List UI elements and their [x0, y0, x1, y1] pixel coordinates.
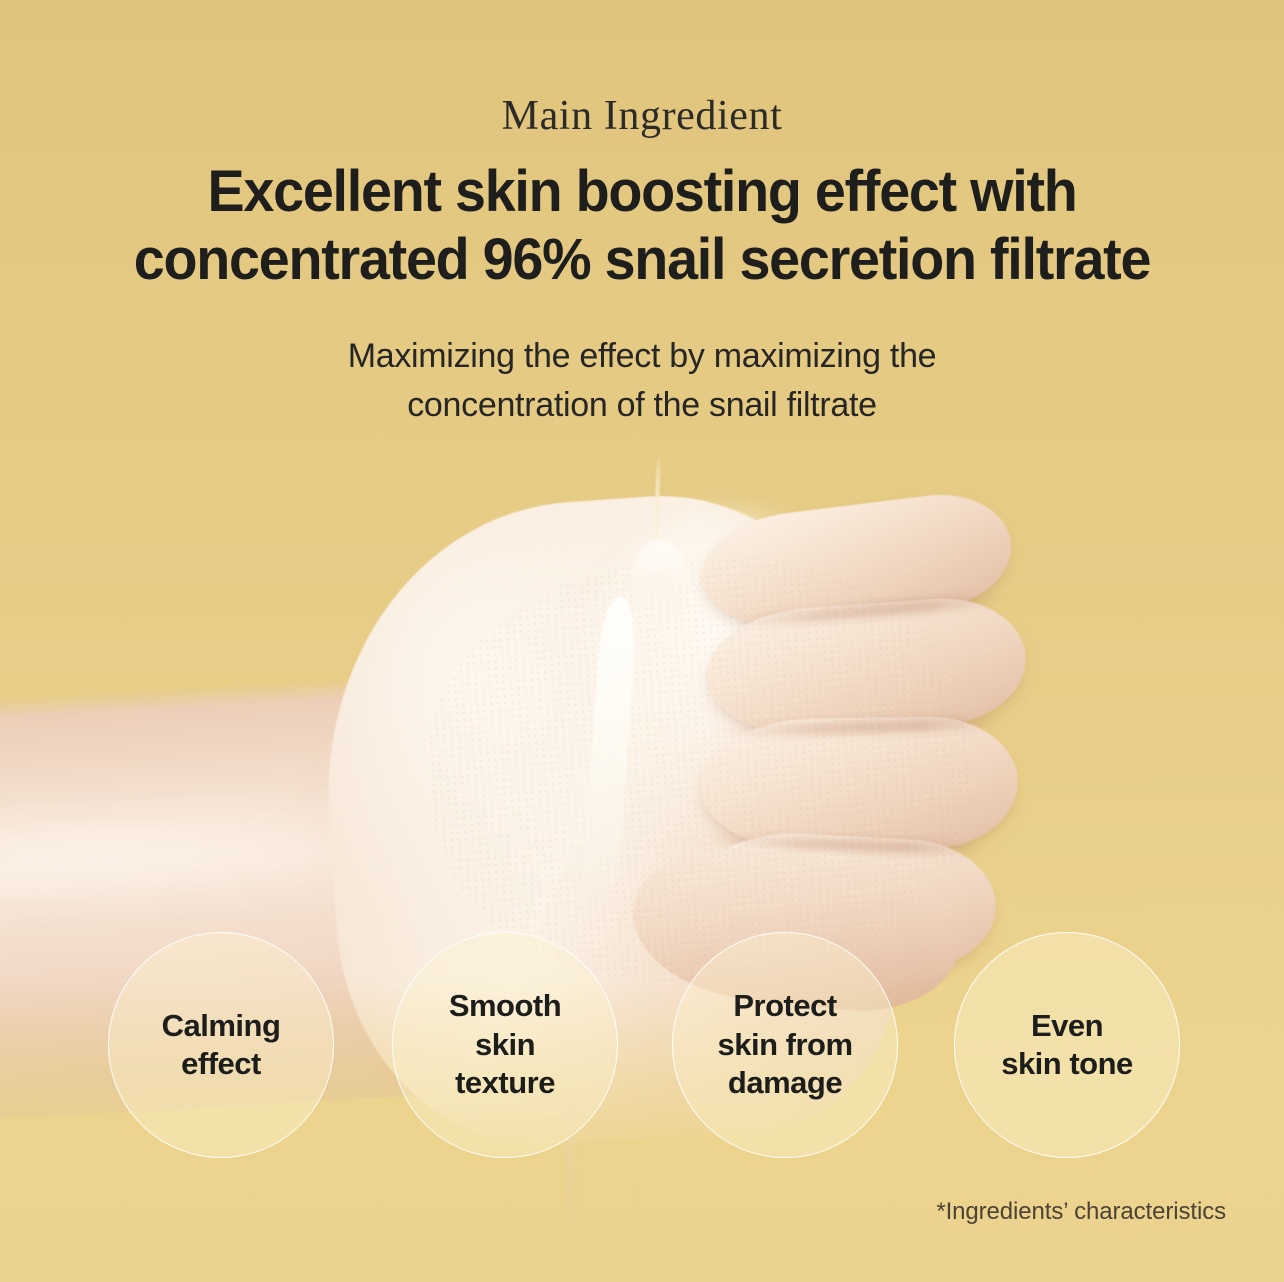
benefit-label: Even skin tone	[991, 1007, 1143, 1084]
product-detail-page: Main Ingredient Excellent skin boosting …	[0, 0, 1284, 1282]
benefit-circle-smooth-texture: Smooth skin texture	[392, 932, 618, 1158]
benefit-label: Calming effect	[152, 1007, 291, 1084]
benefit-label: Protect skin from damage	[707, 987, 862, 1102]
benefit-circle-even-tone: Even skin tone	[954, 932, 1180, 1158]
headline-line-1: Excellent skin boosting effect with	[76, 158, 1209, 226]
benefit-circle-protect-damage: Protect skin from damage	[672, 932, 898, 1158]
subtitle-line-2: concentration of the snail filtrate	[120, 381, 1164, 430]
benefit-circle-group: Calming effect Smooth skin texture Prote…	[0, 932, 1284, 1162]
subtitle: Maximizing the effect by maximizing the …	[120, 332, 1164, 431]
benefit-label: Smooth skin texture	[439, 987, 571, 1102]
serum-droplet	[630, 540, 688, 620]
page-title: Excellent skin boosting effect with conc…	[76, 158, 1209, 295]
finger-ring	[699, 715, 1019, 853]
eyebrow-label: Main Ingredient	[0, 92, 1284, 140]
subtitle-line-1: Maximizing the effect by maximizing the	[120, 332, 1164, 381]
headline-line-2: concentrated 96% snail secretion filtrat…	[76, 226, 1209, 294]
benefit-circle-calming: Calming effect	[108, 932, 334, 1158]
footnote-text: *Ingredients’ characteristics	[936, 1198, 1226, 1226]
